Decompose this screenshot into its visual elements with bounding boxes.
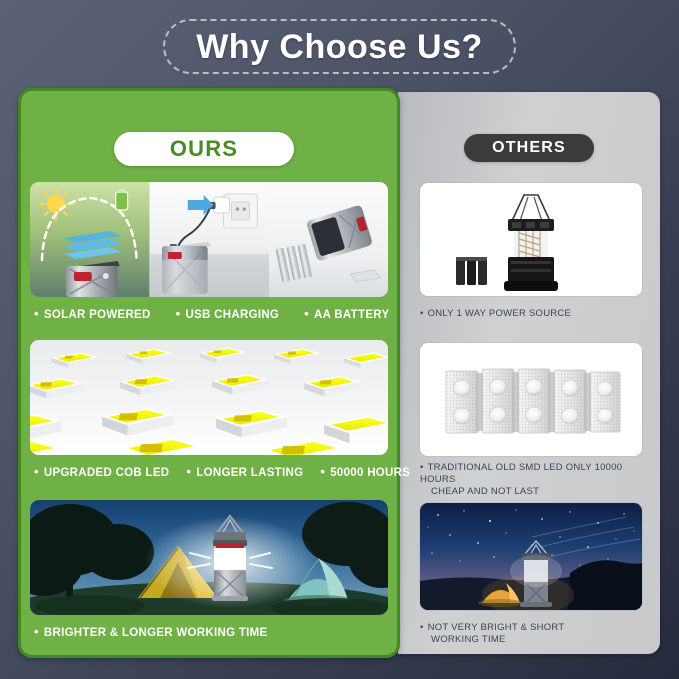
others-caption-line-1: TRADITIONAL OLD SMD LED ONLY 10000 HOURS: [420, 462, 622, 485]
others-image-smd-led-strip: [420, 343, 642, 456]
feature-item: • AA BATTERY: [304, 307, 389, 321]
lifetime-hours-value: 50000: [330, 467, 363, 479]
ours-image-power-sources: [30, 182, 388, 297]
bullet-icon: •: [304, 307, 309, 320]
others-caption-line-1: ONLY 1 WAY POWER SOURCE: [428, 308, 572, 319]
feature-item: • UPGRADED COB LED: [34, 465, 169, 479]
others-caption-smd-led: •TRADITIONAL OLD SMD LED ONLY 10000 HOUR…: [420, 462, 655, 498]
infographic-root: Why Choose Us? OURS OTHERS: [0, 0, 679, 679]
bullet-icon: •: [320, 465, 325, 478]
feature-label: HOURS: [367, 467, 410, 479]
campsite-bright-illustration: [30, 500, 388, 615]
others-caption-line-2: CHEAP AND NOT LAST: [431, 486, 655, 498]
feature-label: UPGRADED COB LED: [44, 467, 170, 479]
others-caption-power-source: •ONLY 1 WAY POWER SOURCE: [420, 308, 655, 320]
cob-led-array-illustration: [30, 340, 388, 455]
others-caption-line-2: WORKING TIME: [431, 634, 655, 646]
others-image-starry-night: [420, 503, 642, 610]
bullet-icon: •: [420, 462, 424, 473]
others-image-black-lantern: [420, 183, 642, 296]
starry-night-illustration: [420, 503, 642, 610]
ours-image-cob-led-array: [30, 340, 388, 455]
bullet-icon: •: [176, 307, 181, 320]
feature-label: AA BATTERY: [314, 309, 389, 321]
smd-led-strip-illustration: [420, 343, 642, 456]
feature-item: • LONGER LASTING: [186, 465, 303, 479]
bullet-icon: •: [186, 465, 191, 478]
bullet-icon: •: [34, 307, 39, 320]
feature-label: SOLAR POWERED: [44, 309, 151, 321]
usb-charging-illustration: [150, 182, 269, 297]
bullet-icon: •: [420, 622, 424, 633]
others-caption-line-1: NOT VERY BRIGHT & SHORT: [428, 622, 565, 633]
feature-item: • SOLAR POWERED: [34, 307, 151, 321]
others-column-label: OTHERS: [464, 134, 594, 162]
solar-powered-illustration: [30, 182, 150, 297]
feature-item: • BRIGHTER & LONGER WORKING TIME: [34, 625, 268, 639]
aa-battery-illustration: [269, 182, 388, 297]
ours-caption-power-sources: • SOLAR POWERED • USB CHARGING • AA BATT…: [34, 307, 390, 321]
feature-label: BRIGHTER & LONGER WORKING TIME: [44, 627, 268, 639]
feature-label: USB CHARGING: [185, 309, 279, 321]
page-title: Why Choose Us?: [196, 30, 483, 64]
page-title-border: Why Choose Us?: [163, 19, 516, 74]
ours-image-campsite-bright: [30, 500, 388, 615]
feature-label: LONGER LASTING: [196, 467, 303, 479]
ours-caption-cob-led: • UPGRADED COB LED • LONGER LASTING • 50…: [34, 465, 390, 479]
ours-caption-brightness: • BRIGHTER & LONGER WORKING TIME: [34, 625, 390, 639]
bullet-icon: •: [34, 625, 39, 638]
bullet-icon: •: [34, 465, 39, 478]
ours-column-label: OURS: [114, 132, 294, 166]
feature-item: • 50000 HOURS: [320, 465, 410, 479]
bullet-icon: •: [420, 308, 424, 319]
black-lantern-illustration: [420, 183, 642, 296]
feature-item: • USB CHARGING: [176, 307, 280, 321]
others-caption-brightness: •NOT VERY BRIGHT & SHORT WORKING TIME: [420, 622, 655, 646]
